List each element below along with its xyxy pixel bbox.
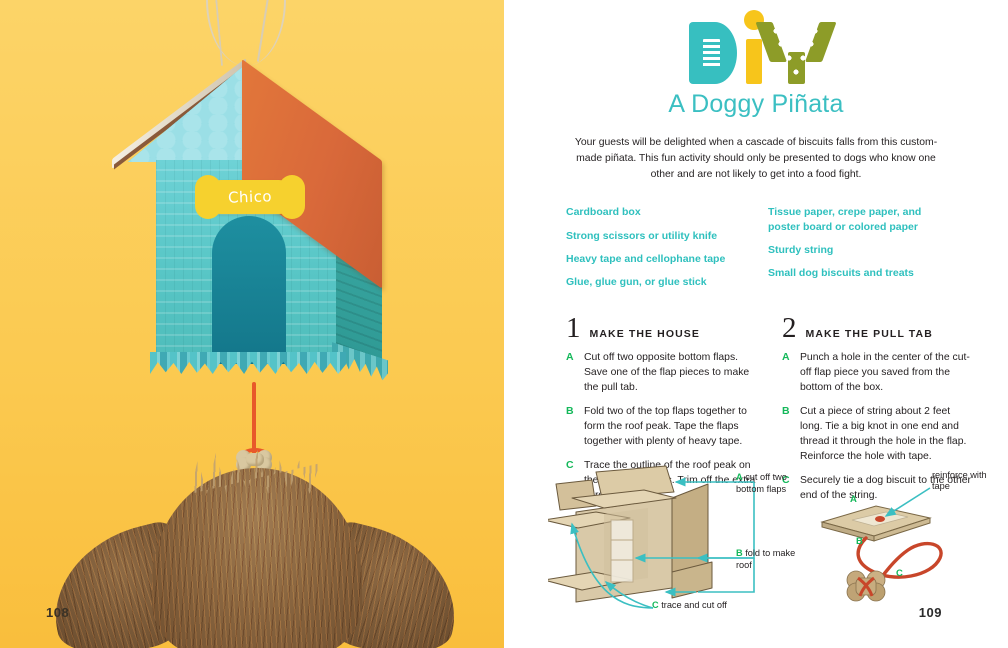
book-spread: Chico 108 xyxy=(0,0,1008,648)
materials-column-b: Tissue paper, crepe paper, and poster bo… xyxy=(768,205,950,298)
material-item: Cardboard box xyxy=(566,205,748,219)
bullet-letter: A xyxy=(566,350,575,395)
pull-tab-letter-c: C xyxy=(896,568,903,579)
step-number: 2 xyxy=(782,316,797,341)
bullet-letter: A xyxy=(782,350,791,395)
material-item: Glue, glue gun, or glue stick xyxy=(566,275,748,289)
step-bullet: A Cut off two opposite bottom flaps. Sav… xyxy=(566,350,758,395)
bone-nameplate: Chico xyxy=(204,180,296,214)
diy-logo xyxy=(504,0,1008,84)
materials-list: Cardboard box Strong scissors or utility… xyxy=(566,205,950,298)
pinata-doghouse: Chico xyxy=(70,56,420,386)
dog-head xyxy=(152,468,362,648)
doghouse-door xyxy=(212,216,286,364)
materials-column-a: Cardboard box Strong scissors or utility… xyxy=(566,205,748,298)
dog-photo xyxy=(40,448,470,648)
figures-area: A cut off two bottom flaps B fold to mak… xyxy=(504,462,1008,612)
box-callout-a-text: cut off two bottom flaps xyxy=(736,472,787,494)
material-item: Strong scissors or utility knife xyxy=(566,229,748,243)
box-callout-c-letter: C xyxy=(652,600,659,610)
pull-string xyxy=(252,382,256,454)
box-callout-c-text: trace and cut off xyxy=(661,600,727,610)
bullet-letter: B xyxy=(566,404,575,449)
box-callout-b: B fold to make roof xyxy=(736,548,798,571)
page-number-left: 108 xyxy=(46,605,69,620)
box-callout-b-letter: B xyxy=(736,548,743,558)
bullet-text: Punch a hole in the center of the cut-of… xyxy=(800,350,974,395)
box-callout-c: C trace and cut off xyxy=(652,600,772,612)
box-callout-a: A cut off two bottom flaps xyxy=(736,472,808,495)
step-number: 1 xyxy=(566,316,581,341)
bullet-letter: B xyxy=(782,404,791,464)
step-title: MAKE THE PULL TAB xyxy=(806,328,933,340)
pull-tab-letter-a: A xyxy=(850,494,857,505)
dog-fur-texture xyxy=(152,468,362,648)
step-title: MAKE THE HOUSE xyxy=(590,328,701,340)
logo-letter-y-icon xyxy=(769,22,823,84)
page-number-right: 109 xyxy=(919,605,942,620)
logo-letter-d-icon xyxy=(689,22,737,84)
material-item: Sturdy string xyxy=(768,243,950,257)
fringe-bottom xyxy=(150,352,346,374)
page-title: A Doggy Piñata xyxy=(504,90,1008,119)
nameplate-text: Chico xyxy=(228,187,273,207)
bullet-text: Fold two of the top flaps together to fo… xyxy=(584,404,758,449)
material-item: Tissue paper, crepe paper, and poster bo… xyxy=(768,205,950,233)
step-bullet: B Cut a piece of string about 2 feet lon… xyxy=(782,404,974,464)
box-callout-a-letter: A xyxy=(736,472,743,482)
material-item: Small dog biscuits and treats xyxy=(768,266,950,280)
bullet-text: Cut a piece of string about 2 feet long.… xyxy=(800,404,974,464)
pull-tab-note: reinforce with tape xyxy=(932,470,996,492)
box-callout-b-text: fold to make roof xyxy=(736,548,795,570)
intro-paragraph: Your guests will be delighted when a cas… xyxy=(564,135,948,183)
right-page-instructions: A Doggy Piñata Your guests will be delig… xyxy=(504,0,1008,648)
step-bullet: A Punch a hole in the center of the cut-… xyxy=(782,350,974,395)
pull-tab-letter-b: B xyxy=(856,536,863,547)
material-item: Heavy tape and cellophane tape xyxy=(566,252,748,266)
left-page-photo: Chico 108 xyxy=(0,0,504,648)
step-bullet: B Fold two of the top flaps together to … xyxy=(566,404,758,449)
bullet-text: Cut off two opposite bottom flaps. Save … xyxy=(584,350,758,395)
